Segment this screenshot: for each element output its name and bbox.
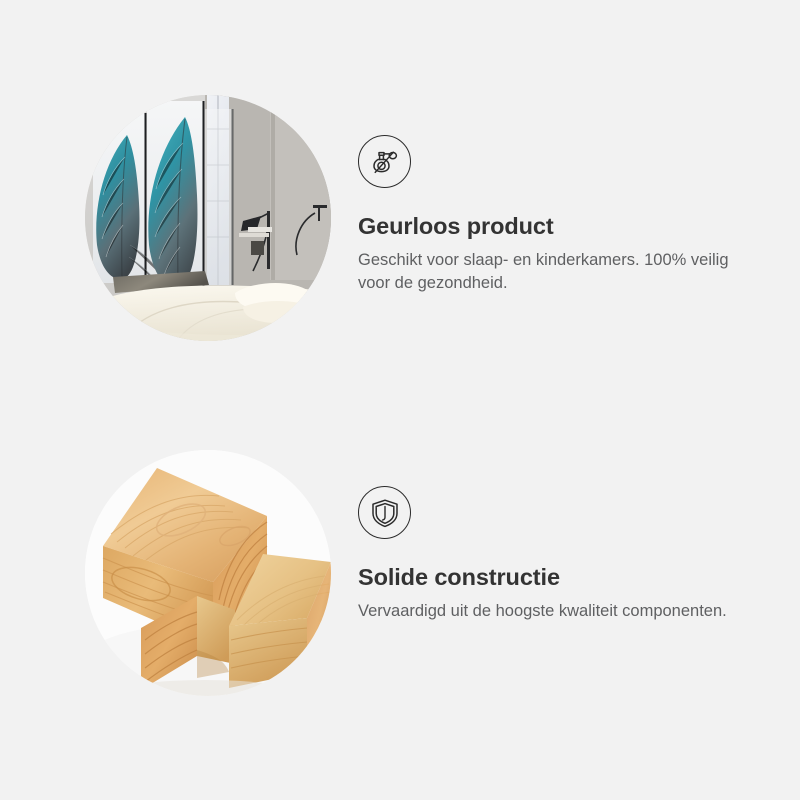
feature-image-wood-blocks [85, 450, 331, 696]
feature-block-solide-constructie: Solide constructie Vervaardigd uit de ho… [0, 430, 800, 750]
circular-photo-frame [85, 450, 331, 696]
feature-title: Solide constructie [358, 565, 768, 591]
circular-photo-frame [85, 95, 331, 341]
feature-title: Geurloos product [358, 214, 768, 240]
feature-copy-column: Geurloos product Geschikt voor slaap- en… [358, 75, 768, 296]
no-fragrance-perfume-bottle-icon [358, 135, 411, 188]
feature-image-feathers [85, 95, 331, 341]
feature-description: Geschikt voor slaap- en kinderkamers. 10… [358, 249, 743, 296]
product-feature-page: Geurloos product Geschikt voor slaap- en… [0, 0, 800, 800]
feature-copy-column: Solide constructie Vervaardigd uit de ho… [358, 430, 768, 623]
shield-check-icon [358, 486, 411, 539]
feature-block-geurloos-product: Geurloos product Geschikt voor slaap- en… [0, 75, 800, 395]
feature-description: Vervaardigd uit de hoogste kwaliteit com… [358, 600, 743, 623]
